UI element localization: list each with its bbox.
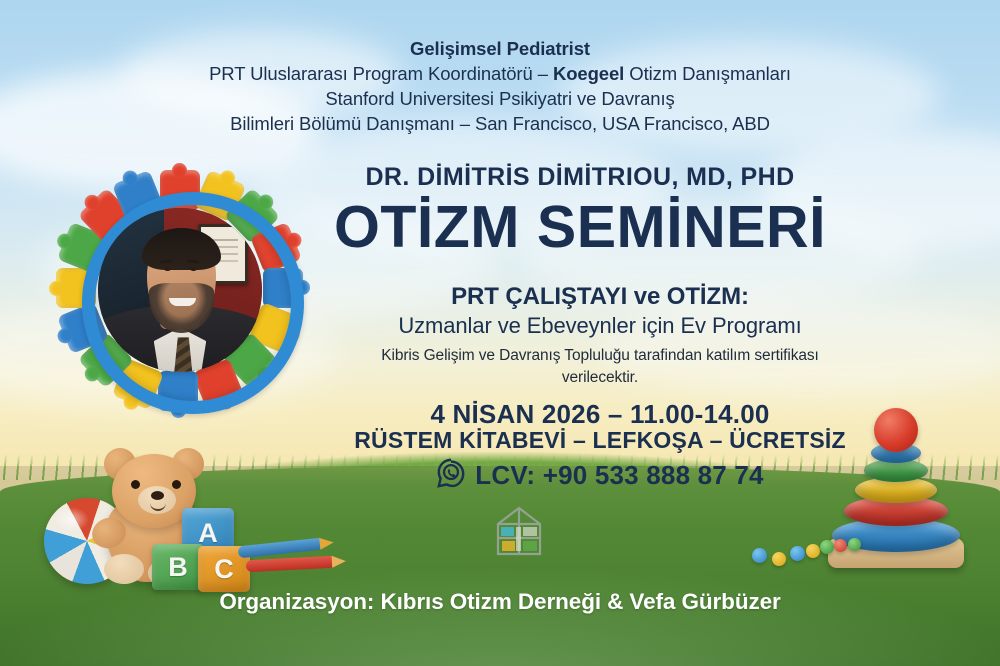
marble [806, 544, 820, 558]
seminar-poster: Gelişimsel Pediatrist PRT Uluslararası P… [0, 0, 1000, 666]
credit-line-2-a: PRT Uluslararası Program Koordinatörü – [209, 63, 553, 84]
certificate-note: Kibris Gelişim ve Davranış Topluluğu tar… [290, 345, 910, 389]
marble [772, 552, 786, 566]
marble [820, 540, 834, 554]
credit-line-4: Bilimleri Bölümü Danışmanı – San Francis… [120, 111, 880, 136]
house-logo-icon [488, 500, 550, 562]
marble [834, 539, 847, 552]
credit-line-3: Stanford Universitesi Psikiyatri ve Davr… [120, 86, 880, 111]
stacker-top-ball [874, 408, 918, 452]
workshop-subtitle: Uzmanlar ve Ebeveynler için Ev Programı [250, 313, 950, 339]
teddy-foot [104, 554, 144, 584]
toy-scene-left: A B C [30, 430, 350, 590]
certificate-note-line-2: verilecektir. [290, 367, 910, 389]
marble [848, 538, 861, 551]
rsvp-phone[interactable]: LCV: +90 533 888 87 74 [475, 460, 763, 491]
credit-line-2: PRT Uluslararası Program Koordinatörü – … [120, 61, 880, 86]
teddy-eye [172, 480, 181, 489]
credit-line-1: Gelişimsel Pediatrist [120, 36, 880, 61]
photo-eye [164, 267, 171, 271]
photo-eye [190, 267, 197, 271]
certificate-note-line-1: Kibris Gelişim ve Davranış Topluluğu tar… [290, 345, 910, 367]
alphabet-block: B [152, 544, 204, 590]
speaker-name: DR. DİMİTRİS DİMİTRIOU, MD, PHD [200, 163, 960, 192]
crayon [246, 556, 335, 573]
speaker-credits: Gelişimsel Pediatrist PRT Uluslararası P… [120, 36, 880, 136]
marble [790, 546, 805, 561]
whatsapp-icon [436, 458, 466, 493]
marble [752, 548, 767, 563]
crayon [238, 538, 323, 559]
page-title: OTİZM SEMİNERİ [200, 196, 960, 258]
ring-stacker-toy [820, 398, 1000, 578]
credit-line-2-c: Otizm Danışmanları [624, 63, 791, 84]
teddy-nose [151, 491, 164, 500]
teddy-eye [131, 480, 140, 489]
workshop-title: PRT ÇALIŞTAYI ve OTİZM: [250, 283, 950, 311]
organization-line: Organizasyon: Kıbrıs Otizm Derneği & Vef… [150, 589, 850, 615]
credit-koegeel: Koegeel [553, 63, 624, 84]
